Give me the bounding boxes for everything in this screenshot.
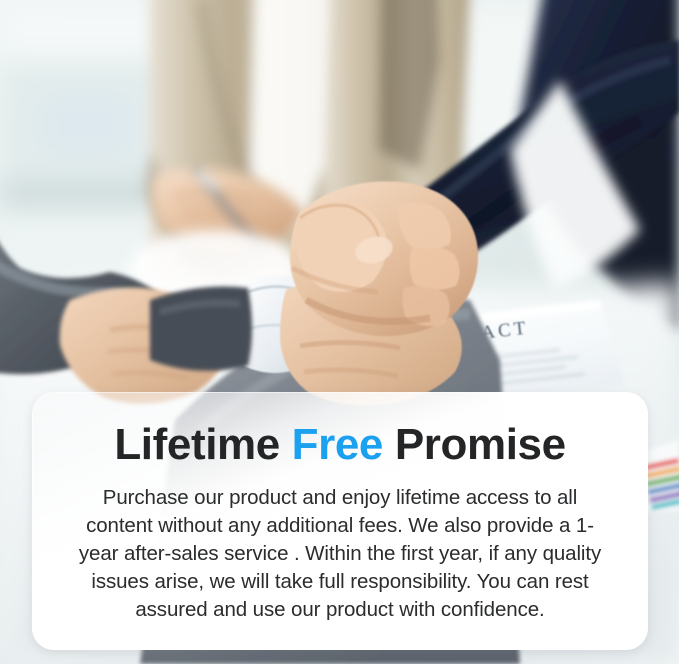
card-body-text: Purchase our product and enjoy lifetime … [68, 484, 612, 624]
card-title-accent: Free [292, 420, 383, 469]
card-title-part-before: Lifetime [114, 420, 291, 469]
promotional-banner: CONTRACT [0, 0, 679, 664]
card-title: Lifetime Free Promise [32, 419, 648, 471]
handshake [280, 181, 478, 405]
card-title-part-after: Promise [383, 420, 566, 469]
dark-sleeve-left [150, 287, 252, 371]
lifetime-free-promise-card: Lifetime Free Promise Purchase our produ… [32, 392, 648, 650]
